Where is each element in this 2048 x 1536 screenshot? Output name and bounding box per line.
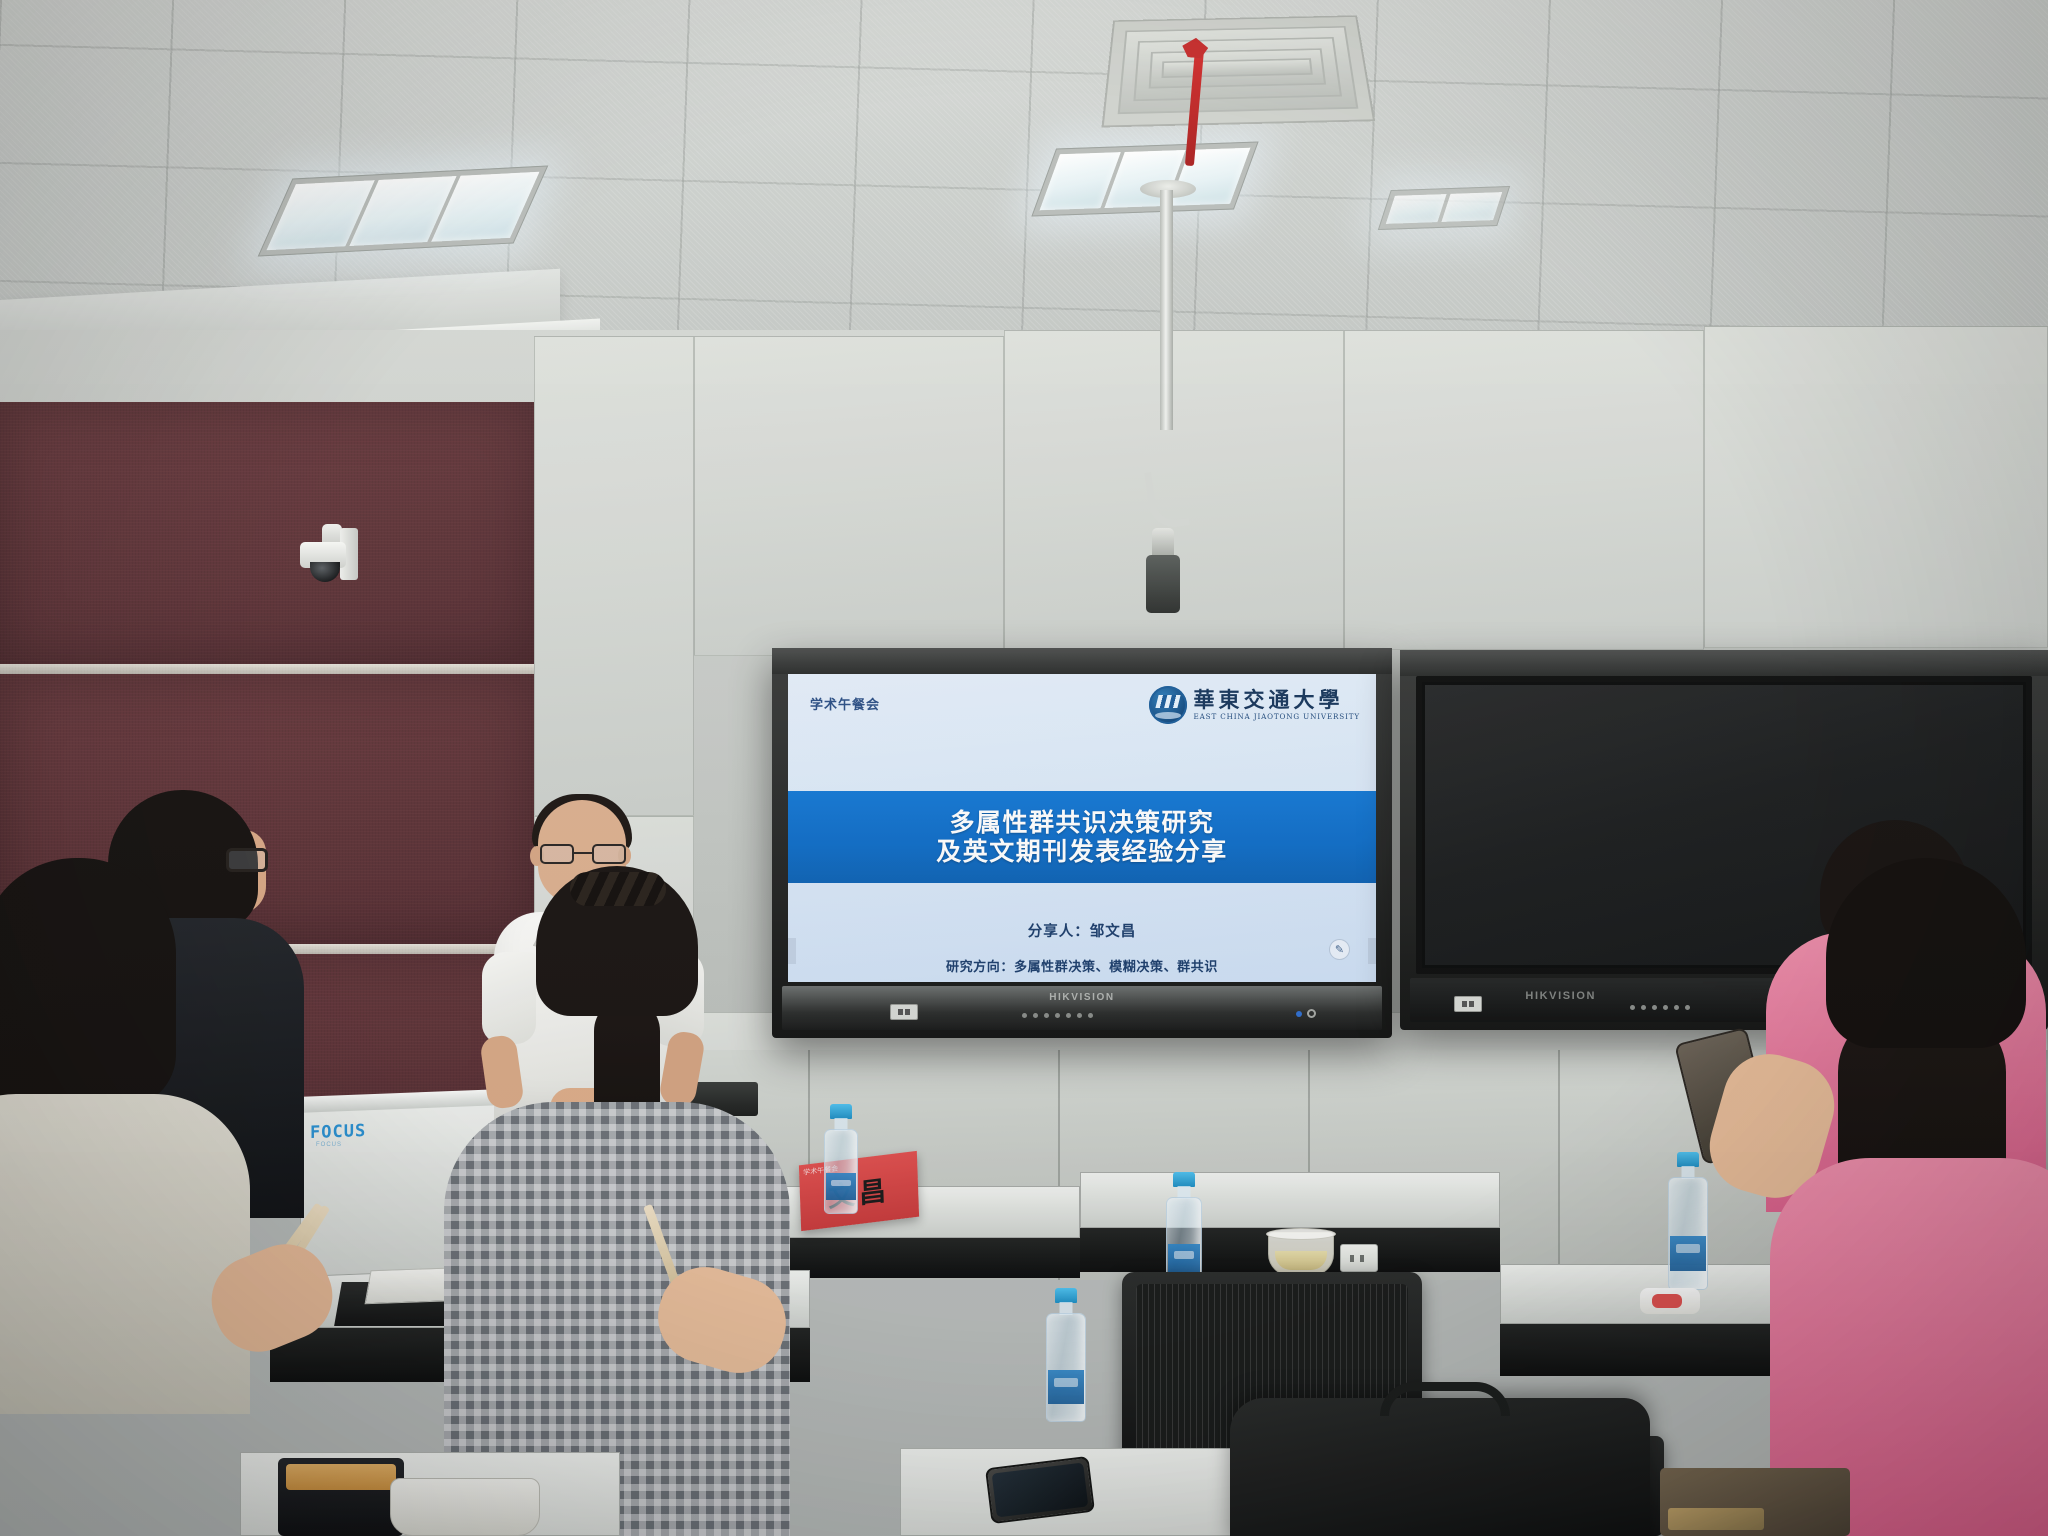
ceiling-light-fixture-far <box>1378 186 1510 230</box>
ceiling-air-diffuser-icon <box>1101 15 1375 127</box>
university-name-en: EAST CHINA JIAOTONG UNIVERSITY <box>1194 713 1360 720</box>
university-name-cn: 華東交通大學 <box>1194 689 1344 710</box>
podium-brand-sub: FOCUS <box>316 1142 342 1148</box>
power-indicator-icon[interactable] <box>1296 1009 1316 1018</box>
display-brand-main: HIKVISION <box>1049 992 1115 1003</box>
glasses-icon <box>540 844 626 864</box>
water-bottle[interactable] <box>1668 1152 1708 1290</box>
screen-edge-left <box>788 938 796 964</box>
podium-brand-logo: FOCUS <box>310 1121 366 1143</box>
presentation-slide[interactable]: 学术午餐会 華東交通大學 EAST CHINA JIAOTONG UNIVERS… <box>788 674 1376 982</box>
water-bottle[interactable] <box>1046 1288 1086 1422</box>
presenter-sleeve-left <box>482 952 536 1044</box>
audience-torso <box>0 1094 250 1414</box>
ceiling-light-fixture-left <box>258 165 549 256</box>
display-top-bevel <box>772 648 1392 674</box>
audience-hair <box>1826 858 2026 1048</box>
main-display[interactable]: 学术午餐会 華東交通大學 EAST CHINA JIAOTONG UNIVERS… <box>772 648 1392 1038</box>
audience-hair-braid <box>536 866 698 1016</box>
audience-hair <box>0 858 176 1108</box>
wall-outlet[interactable] <box>1340 1244 1378 1272</box>
slide-research-line: 研究方向：多属性群决策、模糊决策、群共识 <box>788 956 1376 975</box>
white-bowl <box>390 1478 540 1536</box>
wall-panel-column <box>534 336 694 816</box>
display-brand-secondary: HIKVISION <box>1525 990 1596 1002</box>
wall-panel-upper-c <box>1344 330 1704 650</box>
soup-bowl <box>1268 1232 1334 1276</box>
notebook[interactable] <box>1660 1468 1850 1536</box>
slide-title-line-1: 多属性群共识决策研究 <box>949 809 1214 837</box>
screen-edge-right <box>1368 938 1376 964</box>
slide-presenter-line: 分享人：邹文昌 <box>788 920 1376 941</box>
projector-mount-pole <box>1160 190 1173 430</box>
wall-panel-upper-d <box>1704 326 2048 648</box>
university-crest-icon <box>1149 686 1187 724</box>
water-bottle[interactable] <box>1166 1172 1202 1288</box>
backpack[interactable] <box>1230 1398 1650 1536</box>
ceiling-light-fixture-right <box>1031 142 1258 217</box>
water-bottle[interactable] <box>824 1104 858 1214</box>
red-wrapper <box>1652 1294 1682 1308</box>
dome-camera-icon <box>300 522 358 586</box>
slide-kicker: 学术午餐会 <box>810 694 880 713</box>
display-button-row-secondary[interactable] <box>1630 1005 1690 1010</box>
wall-panel-upper-a <box>694 336 1004 656</box>
display-button-row[interactable] <box>1022 1013 1093 1018</box>
display-bezel-main: HIKVISION <box>782 986 1382 1030</box>
university-logo: 華東交通大學 EAST CHINA JIAOTONG UNIVERSITY <box>1149 686 1360 724</box>
desk-row-back-right <box>1080 1172 1500 1228</box>
display-panel: 学术午餐会 華東交通大學 EAST CHINA JIAOTONG UNIVERS… <box>788 674 1376 982</box>
ir-receiver-icon <box>890 1004 918 1020</box>
lunch-box <box>278 1458 404 1536</box>
projector-mount-head <box>1146 555 1180 613</box>
display-top-bevel-secondary <box>1400 650 2048 676</box>
seminar-room-photo: 学术午餐会 華東交通大學 EAST CHINA JIAOTONG UNIVERS… <box>0 0 2048 1536</box>
slide-title-band: 多属性群共识决策研究 及英文期刊发表经验分享 <box>788 791 1376 883</box>
glasses-icon <box>226 848 268 872</box>
pencil-annotate-icon[interactable]: ✎ <box>1329 939 1350 960</box>
slide-title-line-2: 及英文期刊发表经验分享 <box>936 838 1228 866</box>
ir-receiver-icon-secondary <box>1454 996 1482 1012</box>
